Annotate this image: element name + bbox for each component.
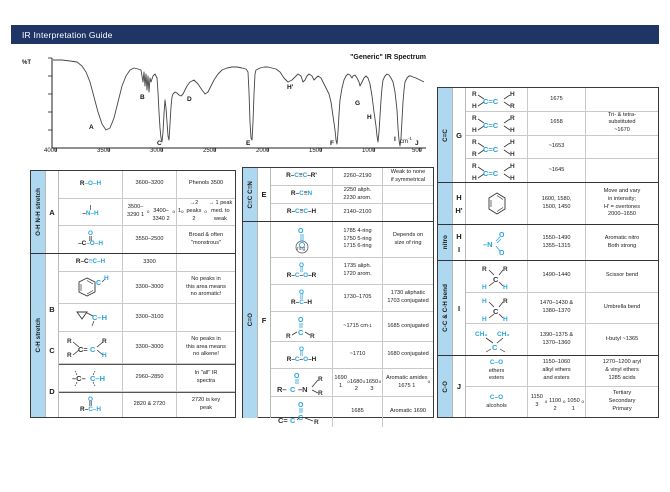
- frequency-cell: 3500–3290 1o3400–3340 2o: [123, 199, 177, 226]
- table-row: O || R–C–O–R 1735 aliph.1720 arom.: [271, 258, 433, 285]
- frequency-cell: 1390–1375 &1370–1360: [528, 324, 586, 355]
- note-cell: Depends onsize of ring: [383, 222, 433, 257]
- structure-cell: CH₃ CH₃ C: [466, 324, 528, 355]
- peak-label-E: E: [246, 140, 250, 147]
- svg-text:C=C: C=C: [483, 97, 499, 106]
- structure-methylene-scissor: R R C H H: [475, 262, 519, 290]
- note-cell: No peaks inthis area meansno alkene!: [177, 332, 235, 363]
- note-cell: [586, 88, 658, 111]
- svg-text:O: O: [294, 373, 300, 380]
- table-row: R R C=C H H ~1653: [466, 136, 658, 160]
- structure-cell: |–N–H: [59, 199, 123, 226]
- svg-text:R: R: [286, 333, 291, 340]
- structure-cyclic-ketone: O ring: [285, 225, 319, 255]
- structure-cell: R–C≡C–R': [271, 168, 333, 185]
- svg-text:H: H: [510, 175, 515, 182]
- group-vertical-label-ch-bend: C-C & C-H bend: [438, 261, 453, 355]
- svg-text:O: O: [499, 232, 505, 239]
- svg-text:H: H: [510, 151, 515, 158]
- x-tick-1000: 1000: [362, 148, 375, 154]
- svg-text:O: O: [298, 402, 304, 409]
- note-cell: [177, 304, 235, 331]
- x-tick-1500: 1500: [309, 148, 322, 154]
- group-nitro: nitro H I O O –N: [438, 225, 658, 261]
- structure-conjugated-ketone: O C= C C R: [276, 399, 328, 425]
- structure-t-butyl: CH₃ CH₃ C: [473, 327, 521, 353]
- structure-cell: C–O alcohols: [466, 387, 528, 417]
- svg-text:C: C: [298, 328, 304, 337]
- structure-cell: O || R–C–O–R: [271, 258, 333, 284]
- structure-internal-alkyne: R–C≡C–R': [286, 173, 317, 180]
- group-letters-bcd: B C D: [46, 254, 59, 417]
- table-triple-bond-carbonyl: C≡C C≡N E R–C≡C–R' 2260–2190 Weak to non…: [242, 167, 434, 418]
- frequency-cell: 1490–1440: [528, 261, 586, 292]
- peak-label-A: A: [89, 124, 94, 131]
- table-row: O || –C–O–H 3550–2500 Broad & often"mons…: [59, 226, 235, 253]
- note-cell: Scissor bend: [586, 261, 658, 292]
- table-row: R–C≡C–H 3300: [59, 254, 235, 272]
- group-letter-G: G: [453, 88, 466, 182]
- svg-text:R: R: [67, 352, 72, 359]
- svg-text:H: H: [472, 103, 477, 110]
- table-row: R R C= C R H 3300–3000 No: [59, 332, 235, 364]
- structure-co-alcohols: C–O alcohols: [486, 394, 507, 410]
- svg-text:R: R: [510, 115, 515, 122]
- peak-label-C: C: [157, 140, 162, 147]
- note-cell: TertiarySecondaryPrimary: [586, 387, 658, 417]
- structure-r-o-h: R–O–H: [80, 181, 101, 188]
- group-letter-J: J: [453, 356, 466, 417]
- structure-nitrile: R–C≡N: [291, 191, 312, 198]
- svg-text:H: H: [503, 284, 508, 290]
- structure-cell: O || R–C–O–H: [271, 342, 333, 368]
- structure-alkyl-ch: –C– C–H: [66, 367, 116, 389]
- table-row: O O –N 1550–14901355–1315 Aromatic nitro…: [466, 225, 658, 260]
- note-cell: [383, 258, 433, 284]
- group-letter-E: E: [258, 168, 271, 221]
- group-vertical-label-nitro: nitro: [438, 225, 453, 260]
- structure-cell: C–O ethers esters: [466, 356, 528, 386]
- svg-text:C=: C=: [78, 345, 88, 354]
- svg-text:H: H: [503, 316, 508, 322]
- svg-text:C: C: [290, 416, 296, 425]
- svg-text:R: R: [510, 103, 515, 110]
- structure-ketone: O C R R: [281, 314, 323, 340]
- peak-label-I: I: [394, 136, 396, 143]
- group-vertical-label-triple-bond: C≡C C≡N: [243, 168, 258, 221]
- structure-aldehyde-carbonyl: O || R–C–H: [291, 290, 312, 307]
- frequency-cell: 1600, 1580,1500, 1450: [528, 183, 586, 224]
- svg-text:H: H: [472, 127, 477, 134]
- svg-text:R: R: [318, 390, 323, 396]
- structure-terminal-alkyne: R–C≡C–H: [287, 209, 316, 216]
- structure-cell: O || –C–O–H: [59, 226, 123, 253]
- structure-cis-alkene: R H C=C R H: [470, 112, 524, 134]
- structure-cell: H R C H H: [466, 293, 528, 324]
- svg-text:H: H: [482, 298, 487, 305]
- group-carbonyl: C=O F O ring: [243, 222, 433, 418]
- svg-text:H: H: [102, 352, 107, 359]
- structure-cyclopropyl-ch: C–H: [69, 307, 113, 329]
- spectrum-trace: [22, 52, 432, 160]
- peak-label-J: J: [415, 140, 419, 147]
- note-cell: [383, 186, 433, 203]
- x-tick-3500: 3500: [97, 148, 110, 154]
- svg-text:R: R: [472, 139, 477, 146]
- svg-text:H: H: [510, 163, 515, 170]
- table-row: CH₃ CH₃ C 1390–1375 &1370–1360 t-butyl ~…: [466, 324, 658, 355]
- frequency-cell: 2140–2100: [333, 204, 383, 221]
- frequency-cell: 1685: [333, 397, 383, 427]
- structure-trans-alkene: R H C=C H R: [470, 88, 524, 110]
- x-tick-500: 500: [412, 148, 422, 154]
- frequency-cell: 1658: [528, 112, 586, 135]
- svg-text:R: R: [472, 91, 477, 98]
- peak-label-H: H: [367, 114, 372, 121]
- frequency-cell: 1730–1705: [333, 285, 383, 311]
- frequency-cell: 1735 aliph.1720 arom.: [333, 258, 383, 284]
- svg-text:H: H: [482, 284, 487, 290]
- structure-cell: O C R R: [271, 312, 333, 341]
- structure-cell: R–C≡C–H: [59, 254, 123, 271]
- note-cell: [586, 159, 658, 182]
- frequency-cell: 3550–2500: [123, 226, 177, 253]
- svg-text:R: R: [310, 333, 315, 340]
- group-alkene-cc: C=C G R H C=C H: [438, 88, 658, 183]
- table-row: O C R R ~1715 cm-1 1685 conjugated: [271, 312, 433, 342]
- frequency-cell: ~1715 cm-1: [333, 312, 383, 341]
- svg-text:C–H: C–H: [90, 374, 105, 383]
- x-tick-2500: 2500: [203, 148, 216, 154]
- frequency-cell: ~1710: [333, 342, 383, 368]
- x-tick-3000: 3000: [150, 148, 163, 154]
- table-row: R–C≡C–H 2140–2100: [271, 204, 433, 221]
- group-oh-nh-stretch: O-H N-H stretch A R–O–H 3600–3200 Phenol…: [31, 171, 235, 254]
- structure-cell: C H: [59, 272, 123, 303]
- svg-text:C: C: [96, 280, 101, 287]
- table-row: O R– C –N R R 1690 1o1680 2o1650 3o: [271, 369, 433, 397]
- structure-ester: O || R–C–O–R: [287, 263, 317, 280]
- svg-text:R: R: [503, 266, 508, 273]
- svg-text:H: H: [510, 91, 515, 98]
- page-header-bar: IR Interpretation Guide: [11, 25, 659, 44]
- svg-text:–N: –N: [483, 240, 493, 249]
- structure-cell: C–H: [59, 304, 123, 331]
- ir-guide-page: IR Interpretation Guide "Generic" IR Spe…: [0, 0, 670, 492]
- svg-text:H: H: [472, 175, 477, 182]
- frequency-cell: 2960–2850: [123, 365, 177, 391]
- note-cell: Phenols 3500: [177, 171, 235, 198]
- structure-cell: R H C=C R H: [466, 112, 528, 135]
- svg-text:O: O: [298, 317, 304, 324]
- structure-cell: O O –N: [466, 225, 528, 260]
- note-cell: Broad & often"monstrous": [177, 226, 235, 253]
- note-cell: 1680 conjugated: [383, 342, 433, 368]
- frequency-cell: ~1645: [528, 159, 586, 182]
- group-vertical-label-ch-stretch: C-H stretch: [31, 254, 46, 417]
- table-row: O ring 1785 4-ring1750 5-ring1715 6-ring…: [271, 222, 433, 258]
- table-row: C–H 3300–3100: [59, 304, 235, 332]
- x-tick-4000: 4000: [44, 148, 57, 154]
- peak-label-H-prime: H': [287, 84, 293, 91]
- structure-cell: O || R–C–H: [59, 393, 123, 417]
- table-row: R R C H H 1490–1440 Scissor bend: [466, 261, 658, 293]
- spectrum-x-tick-labels: 4000 3500 3000 2500 2000 1500 1000 500: [22, 148, 432, 160]
- structure-alkyne-ch: R–C≡C–H: [76, 259, 105, 266]
- table-row: H R C H H 1470–1430 &1380–1370 Umbrella: [466, 293, 658, 325]
- structure-aromatic-ch: C H: [71, 275, 111, 301]
- structure-alkene-ch: R R C= C R H: [65, 336, 117, 360]
- frequency-cell: 1470–1430 &1380–1370: [528, 293, 586, 324]
- svg-text:R: R: [503, 298, 508, 305]
- frequency-cell: 3300–3000: [123, 272, 177, 303]
- structure-cell: O ring: [271, 222, 333, 257]
- structure-cell: R–C≡C–H: [271, 204, 333, 221]
- frequency-cell: 2820 & 2720: [123, 393, 177, 417]
- svg-text:R: R: [314, 419, 319, 425]
- note-cell: Tri- & tetra-substituted~1670: [586, 112, 658, 135]
- group-letters-H-I: H I: [453, 225, 466, 260]
- frequency-cell: 3600–3200: [123, 171, 177, 198]
- note-cell: 1270–1200 aryl& vinyl ethers1285 acids: [586, 356, 658, 386]
- group-triple-bond: C≡C C≡N E R–C≡C–R' 2260–2190 Weak to non…: [243, 168, 433, 222]
- note-cell: Aromatic 1690: [383, 397, 433, 427]
- structure-carboxylic-acid-oh: O || –C–O–H: [78, 231, 103, 248]
- group-vertical-label-aromatic: [438, 183, 453, 224]
- note-cell: [177, 254, 235, 271]
- frequency-cell: 3300–3100: [123, 304, 177, 331]
- frequency-cell: 1150–1060alkyl ethersand esters: [528, 356, 586, 386]
- frequency-cell: 3300: [123, 254, 177, 271]
- svg-text:C: C: [90, 345, 96, 354]
- svg-text:H: H: [104, 275, 109, 282]
- svg-text:R: R: [472, 163, 477, 170]
- page-title: IR Interpretation Guide: [11, 30, 113, 40]
- svg-text:R: R: [102, 338, 107, 345]
- table-row: O || R–C–H 2820 & 2720 2720 is keypeak: [59, 392, 235, 417]
- structure-cell: R R C=C H H: [466, 136, 528, 159]
- structure-cell: R H C=C H R: [466, 88, 528, 111]
- note-cell: [586, 136, 658, 159]
- svg-text:O: O: [298, 228, 304, 235]
- svg-text:C: C: [493, 275, 499, 284]
- group-ch-bend: C-C & C-H bend I R R C H H: [438, 261, 658, 356]
- group-letter-F: F: [258, 222, 271, 418]
- svg-text:C=: C=: [278, 416, 288, 425]
- table-oh-nh-ch-stretch: O-H N-H stretch A R–O–H 3600–3200 Phenol…: [30, 170, 236, 418]
- structure-terminal-alkene: R H C=C H H: [470, 160, 524, 182]
- frequency-cell: 1150 3o1100 2o1050 1o: [528, 387, 586, 417]
- svg-text:C=C: C=C: [483, 145, 499, 154]
- structure-cell: R R C= C R H: [59, 332, 123, 363]
- table-row: R–C≡C–R' 2260–2190 Weak to noneif symmet…: [271, 168, 433, 186]
- note-cell: 1730 aliphatic1703 conjugated: [383, 285, 433, 311]
- frequency-cell: 2250 aliph.2230 arom.: [333, 186, 383, 203]
- peak-label-B: B: [140, 94, 145, 101]
- structure-carboxylic-acid: O || R–C–O–H: [287, 347, 317, 364]
- structure-cell: O R– C –N R R: [271, 369, 333, 396]
- frequency-cell: 1550–14901355–1315: [528, 225, 586, 260]
- group-letter-A: A: [46, 171, 59, 253]
- structure-cell: R–O–H: [59, 171, 123, 198]
- structure-benzene-ring: [483, 189, 511, 219]
- svg-text:CH₃: CH₃: [475, 331, 487, 338]
- structure-gem-alkene: R R C=C H H: [470, 136, 524, 158]
- svg-text:C–H: C–H: [92, 313, 107, 322]
- svg-text:C=C: C=C: [483, 121, 499, 130]
- svg-text:C: C: [492, 343, 498, 352]
- structure-cell: [466, 183, 528, 224]
- table-row: O || R–C–O–H ~1710 1680 conjugated: [271, 342, 433, 369]
- svg-text:R: R: [472, 151, 477, 158]
- frequency-cell: 2260–2190: [333, 168, 383, 185]
- svg-text:–C–: –C–: [72, 374, 86, 383]
- svg-text:ring: ring: [297, 246, 306, 252]
- table-row: 1600, 1580,1500, 1450 Move and varyin in…: [466, 183, 658, 224]
- group-letter-I: I: [453, 261, 466, 355]
- svg-text:H: H: [510, 127, 515, 134]
- note-cell: In "all" IRspectra: [177, 365, 235, 391]
- peak-label-G: G: [355, 100, 360, 107]
- svg-text:C: C: [290, 385, 296, 394]
- group-vertical-label-oh-nh: O-H N-H stretch: [31, 171, 46, 253]
- table-row: R H C=C H R 1675: [466, 88, 658, 112]
- svg-text:CH₃: CH₃: [497, 331, 509, 338]
- structure-cell: R H C=C H H: [466, 159, 528, 182]
- svg-text:C: C: [298, 413, 304, 422]
- svg-text:–N: –N: [298, 385, 308, 394]
- svg-text:R–: R–: [277, 385, 287, 394]
- note-cell: [383, 204, 433, 221]
- frequency-cell: 1690 1o1680 2o1650 3o: [333, 369, 383, 396]
- table-row: C–O alcohols 1150 3o1100 2o1050 1o Terti…: [466, 387, 658, 417]
- svg-text:C: C: [493, 307, 499, 316]
- note-cell: 1685 conjugated: [383, 312, 433, 341]
- x-tick-2000: 2000: [256, 148, 269, 154]
- svg-text:H: H: [510, 139, 515, 146]
- group-vertical-label-cc: C=C: [438, 88, 453, 182]
- peak-label-F: F: [330, 140, 334, 147]
- group-co-stretch: C-O J C–O ethers esters 1150–1060alkyl e…: [438, 356, 658, 417]
- svg-text:C=C: C=C: [483, 169, 499, 178]
- structure-co-ethers-esters: C–O ethers esters: [489, 359, 505, 383]
- note-cell: 2720 is keypeak: [177, 393, 235, 417]
- frequency-cell: 3300–3000: [123, 332, 177, 363]
- table-row: C H 3300–3000 No peaks inthis area means…: [59, 272, 235, 304]
- group-letters-H-Hprime: H H': [453, 183, 466, 224]
- structure-cell: O || R–C–H: [271, 285, 333, 311]
- note-cell: Weak to noneif symmetrical: [383, 168, 433, 185]
- group-ch-stretch: C-H stretch B C D R–C≡C–H 3300: [31, 254, 235, 417]
- frequency-cell: 1675: [528, 88, 586, 111]
- structure-amide: O R– C –N R R: [274, 370, 330, 396]
- note-cell: 1o→2 peaks2o→ 1 peakmed. to weak: [177, 199, 235, 226]
- table-cc-aromatic-nitro-bend-co: C=C G R H C=C H: [437, 87, 659, 418]
- structure-n-h: |–N–H: [82, 206, 98, 217]
- ir-spectrum-chart: "Generic" IR Spectrum %T 4000: [22, 52, 432, 160]
- svg-text:R: R: [472, 115, 477, 122]
- structure-methyl-umbrella: H R C H H: [475, 294, 519, 322]
- svg-text:R: R: [318, 376, 323, 383]
- group-aromatic-ring: H H' 1600, 1580,1500, 1450 Move and vary…: [438, 183, 658, 225]
- svg-text:H: H: [482, 316, 487, 322]
- structure-cell: O C= C C R: [271, 397, 333, 427]
- svg-text:R: R: [482, 266, 487, 273]
- structure-cell: –C– C–H: [59, 365, 123, 391]
- table-row: O || R–C–H 1730–1705 1730 aliphatic1703 …: [271, 285, 433, 312]
- table-row: R H C=C H H ~1645: [466, 159, 658, 182]
- frequency-cell: ~1653: [528, 136, 586, 159]
- note-cell: Umbrella bend: [586, 293, 658, 324]
- frequency-cell: 1785 4-ring1750 5-ring1715 6-ring: [333, 222, 383, 257]
- table-row: –C– C–H 2960–2850 In "all" IRspectra: [59, 364, 235, 392]
- note-cell: Aromatic nitroBoth strong: [586, 225, 658, 260]
- table-row: O C= C C R 1685 Aromatic 1690: [271, 397, 433, 427]
- note-cell: No peaks inthis area meansno aromatic!: [177, 272, 235, 303]
- note-cell: Move and varyin intensity;H' = overtones…: [586, 183, 658, 224]
- svg-text:R: R: [67, 338, 72, 345]
- structure-nitro-group: O O –N: [475, 229, 519, 257]
- structure-cell: R–C≡N: [271, 186, 333, 203]
- table-row: R–O–H 3600–3200 Phenols 3500: [59, 171, 235, 199]
- spectrum-x-unit: cm-1: [400, 136, 412, 145]
- structure-aldehyde: O || R–C–H: [80, 397, 101, 414]
- table-row: R–C≡N 2250 aliph.2230 arom.: [271, 186, 433, 204]
- table-row: C–O ethers esters 1150–1060alkyl ethersa…: [466, 356, 658, 387]
- note-cell: Aromatic amides1675 1o: [383, 369, 433, 396]
- group-vertical-label-co: C-O: [438, 356, 453, 417]
- table-row: R H C=C R H 1658 Tri- & tetra-substitute: [466, 112, 658, 136]
- structure-cell: R R C H H: [466, 261, 528, 292]
- table-row: |–N–H 3500–3290 1o3400–3340 2o 1o→2 peak…: [59, 199, 235, 227]
- note-cell: t-butyl ~1365: [586, 324, 658, 355]
- group-vertical-label-carbonyl: C=O: [243, 222, 258, 418]
- peak-label-D: D: [187, 96, 192, 103]
